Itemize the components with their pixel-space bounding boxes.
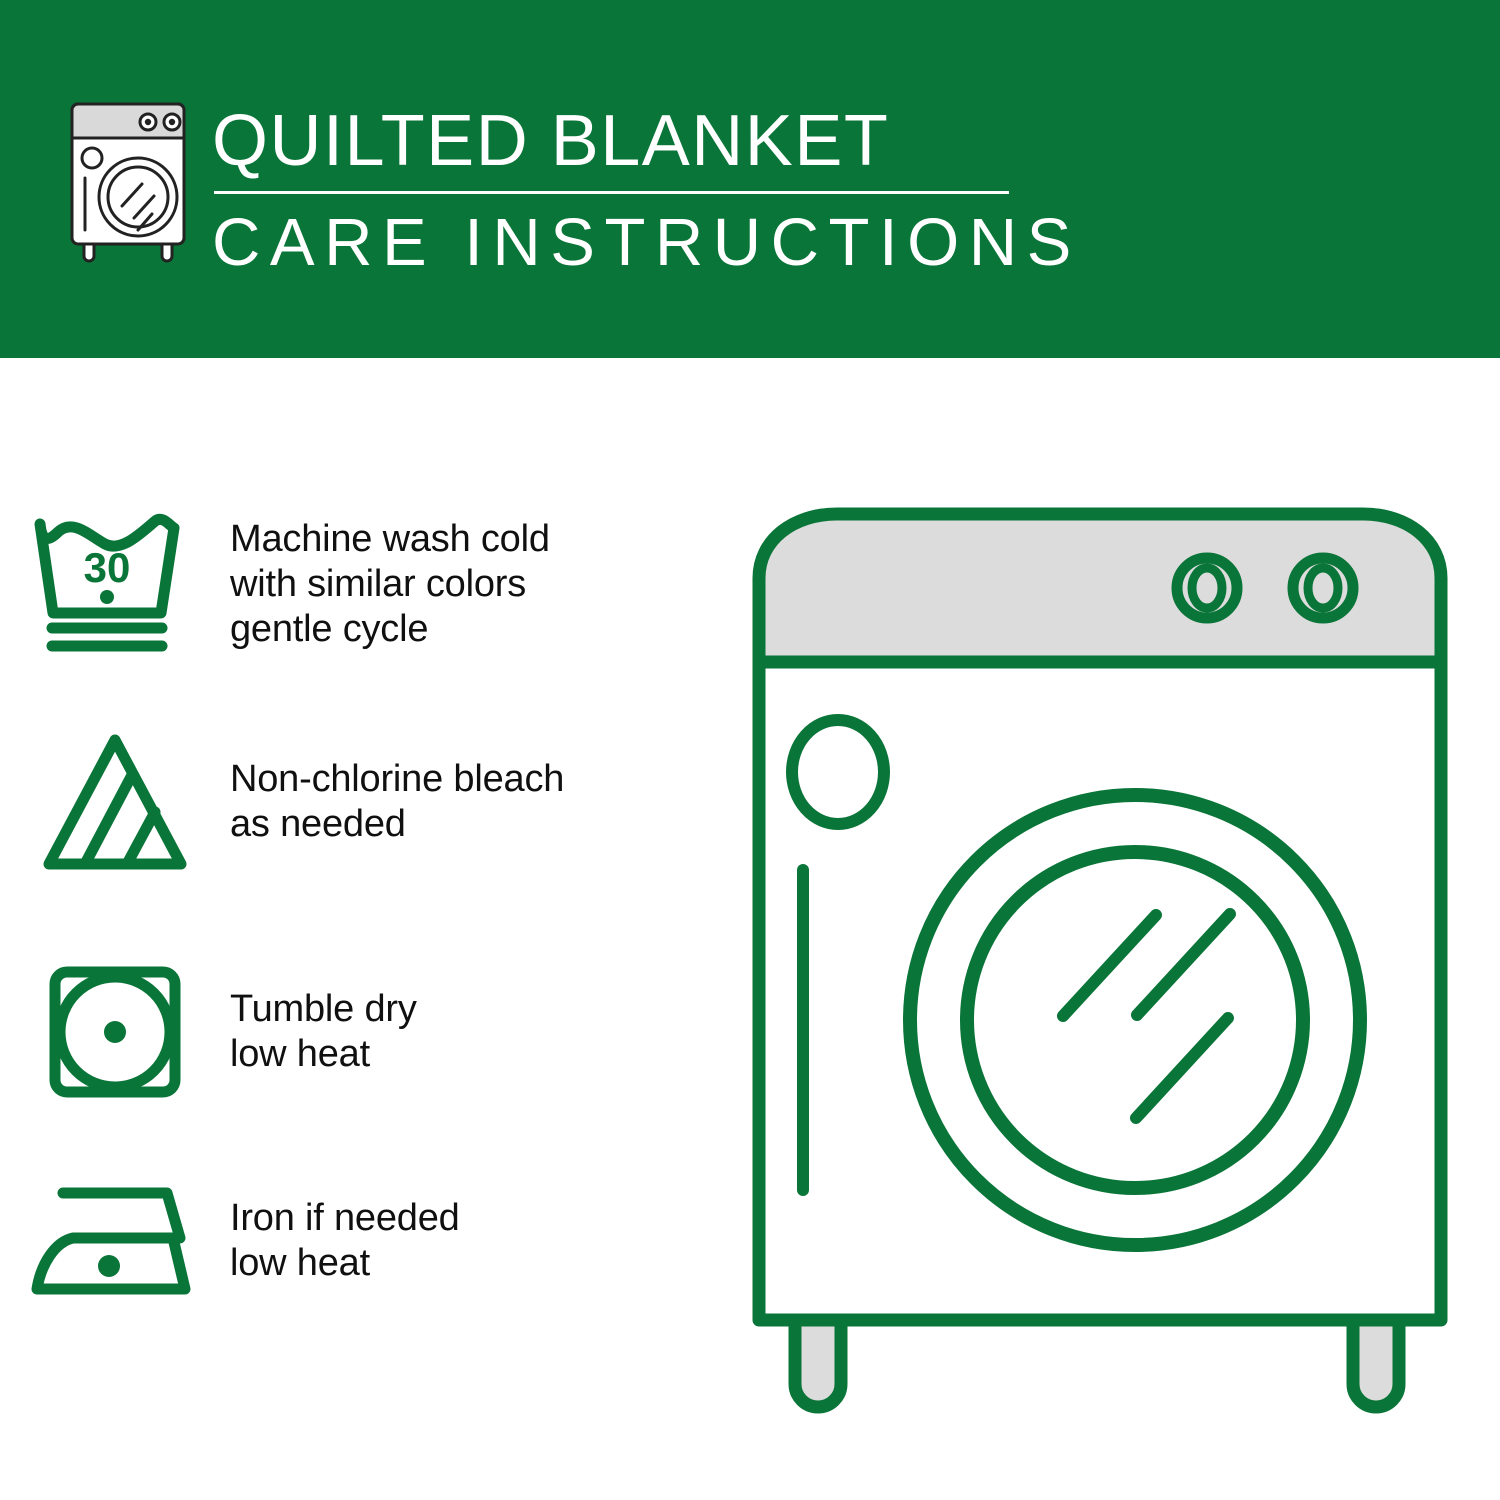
washing-machine-icon [62, 96, 194, 264]
header-banner: QUILTED BLANKET CARE INSTRUCTIONS [0, 0, 1500, 358]
care-row: Non-chlorine bleach as needed [0, 728, 730, 876]
triangle-non-chlorine-bleach-icon [35, 728, 195, 876]
tumble-dry-low-icon [41, 958, 189, 1106]
washing-machine-illustration [745, 500, 1455, 1425]
header-content: QUILTED BLANKET CARE INSTRUCTIONS [62, 96, 1012, 279]
care-text: Non-chlorine bleach as needed [230, 757, 564, 847]
washer-leg-right [1353, 1320, 1399, 1407]
title-block: QUILTED BLANKET CARE INSTRUCTIONS [212, 96, 1012, 279]
care-row: 30 Machine wash cold with similar colors… [0, 510, 730, 658]
care-row: Tumble dry low heat [0, 958, 730, 1106]
care-row: Iron if needed low heat [0, 1176, 730, 1306]
page-subtitle: CARE INSTRUCTIONS [212, 207, 1012, 279]
care-text: Machine wash cold with similar colors ge… [230, 517, 550, 652]
care-instruction-list: 30 Machine wash cold with similar colors… [0, 358, 730, 1500]
care-symbol-slot [0, 728, 230, 876]
wash-temperature-label: 30 [83, 544, 130, 591]
iron-low-heat-icon [25, 1176, 205, 1306]
door-shine-marks [1063, 914, 1230, 1118]
care-text: Iron if needed low heat [230, 1196, 460, 1286]
care-text: Tumble dry low heat [230, 987, 417, 1077]
title-divider [214, 191, 1009, 194]
care-symbol-slot: 30 [0, 510, 230, 658]
care-symbol-slot [0, 1176, 230, 1306]
washer-leg-left [795, 1320, 841, 1407]
care-symbol-slot [0, 958, 230, 1106]
page-title: QUILTED BLANKET [212, 102, 1012, 180]
detergent-dispenser-icon [792, 720, 884, 824]
washer-svg [745, 500, 1455, 1425]
wash-tub-30-gentle-icon: 30 [28, 510, 203, 658]
